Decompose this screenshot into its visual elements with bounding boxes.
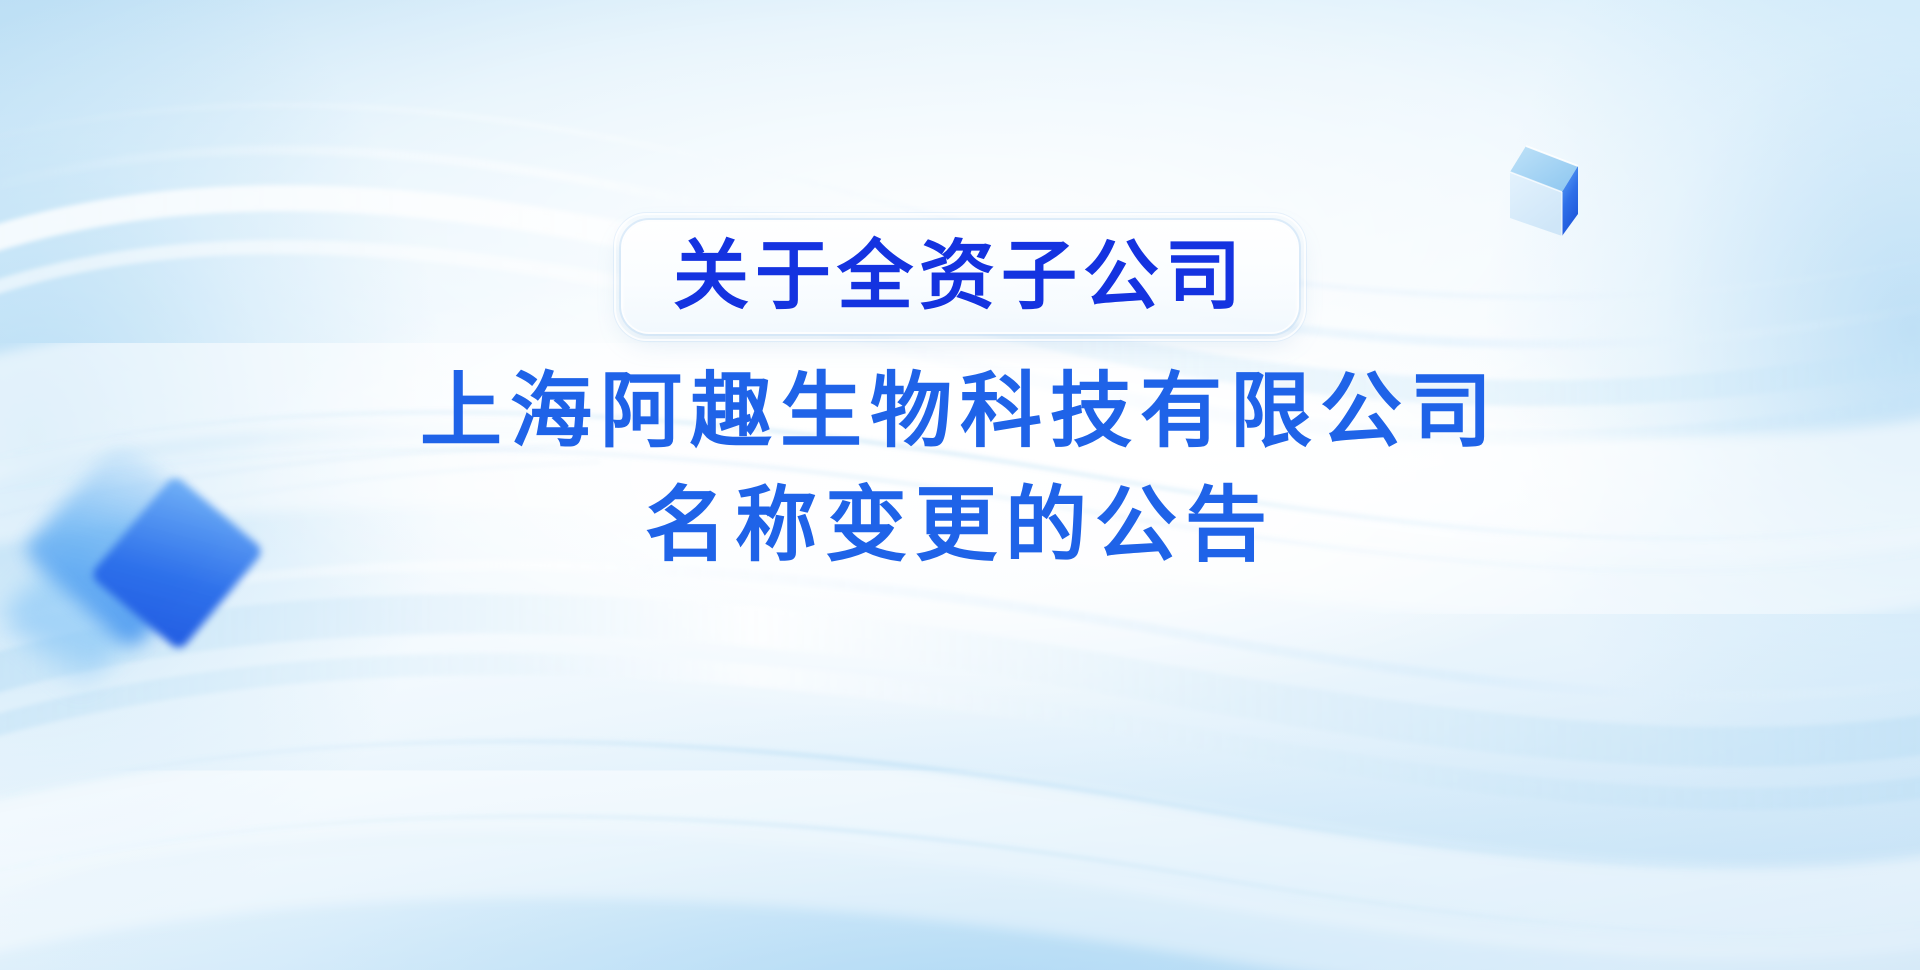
headline-line-1: 上海阿趣生物科技有限公司	[420, 358, 1500, 466]
banner-content: 关于全资子公司 上海阿趣生物科技有限公司 名称变更的公告	[0, 0, 1920, 970]
title-badge: 关于全资子公司	[623, 222, 1297, 332]
headline-line-2: 名称变更的公告	[420, 472, 1500, 580]
announcement-banner: 关于全资子公司 上海阿趣生物科技有限公司 名称变更的公告	[0, 0, 1920, 970]
headline: 上海阿趣生物科技有限公司 名称变更的公告	[420, 358, 1500, 580]
badge-label: 关于全资子公司	[673, 239, 1247, 315]
